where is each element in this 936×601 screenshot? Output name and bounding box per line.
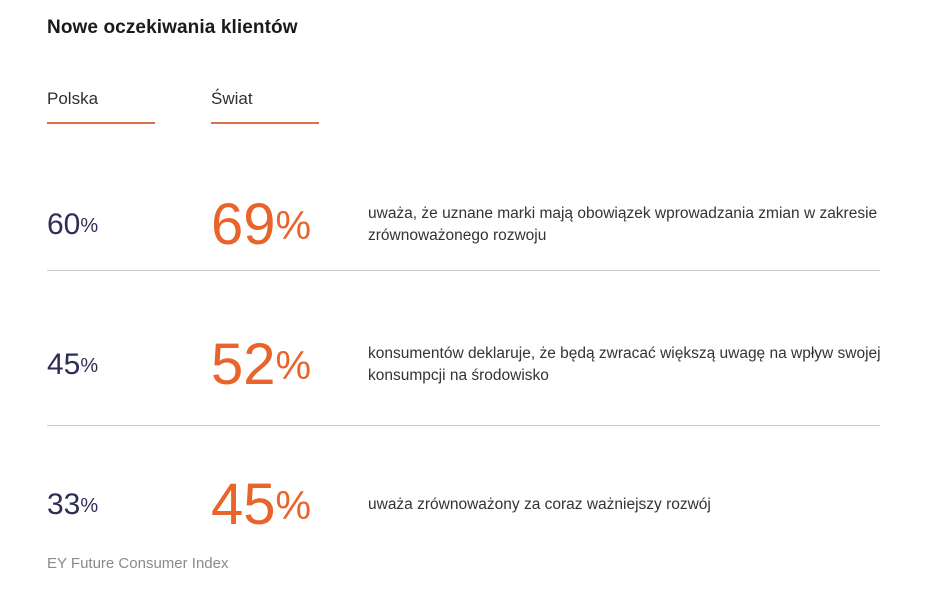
- percent-sign: %: [276, 344, 312, 388]
- row-divider: [47, 270, 880, 271]
- page-title: Nowe oczekiwania klientów: [47, 17, 298, 39]
- column-header-polska-label: Polska: [47, 88, 155, 110]
- stat-row: 60% 69% uważa, że uznane marki mają obow…: [0, 155, 936, 295]
- percent-sign: %: [80, 495, 98, 517]
- column-headers: Polska Świat: [0, 88, 936, 133]
- stat-value-swiat: 69%: [211, 196, 361, 254]
- percent-sign: %: [80, 215, 98, 237]
- stat-value-polska: 60%: [47, 210, 197, 240]
- stat-value-polska: 33%: [47, 490, 197, 520]
- stat-value-polska: 45%: [47, 350, 197, 380]
- column-header-swiat: Świat: [211, 88, 319, 124]
- infographic-page: Nowe oczekiwania klientów Polska Świat 6…: [0, 0, 936, 601]
- stat-description: konsumentów deklaruje, że będą zwracać w…: [368, 343, 888, 387]
- stat-value-swiat: 52%: [211, 336, 361, 394]
- percent-sign: %: [276, 204, 312, 248]
- source-footer: EY Future Consumer Index: [47, 555, 228, 572]
- column-header-swiat-label: Świat: [211, 88, 319, 110]
- column-header-polska-underline: [47, 122, 155, 124]
- stat-description: uważa, że uznane marki mają obowiązek wp…: [368, 203, 888, 247]
- percent-sign: %: [276, 484, 312, 528]
- stat-rows: 60% 69% uważa, że uznane marki mają obow…: [0, 155, 936, 575]
- column-header-swiat-underline: [211, 122, 319, 124]
- percent-sign: %: [80, 355, 98, 377]
- stat-description: uważa zrównoważony za coraz ważniejszy r…: [368, 494, 888, 516]
- stat-row: 45% 52% konsumentów deklaruje, że będą z…: [0, 295, 936, 435]
- column-header-polska: Polska: [47, 88, 155, 124]
- stat-value-swiat: 45%: [211, 476, 361, 534]
- stat-row: 33% 45% uważa zrównoważony za coraz ważn…: [0, 435, 936, 575]
- row-divider: [47, 425, 880, 426]
